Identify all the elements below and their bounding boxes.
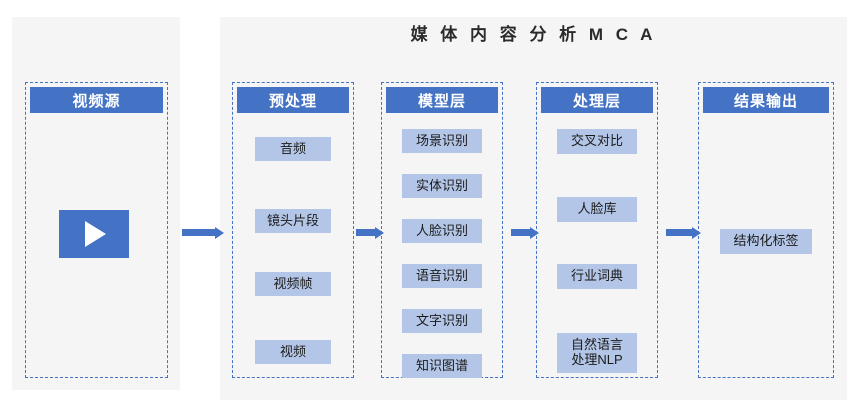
column-body-processing-layer: 交叉对比 人脸库 行业词典 自然语言 处理NLP [537, 115, 657, 377]
list-item[interactable]: 交叉对比 [557, 129, 637, 154]
column-body-result-output: 结构化标签 [699, 115, 833, 377]
list-item[interactable]: 文字识别 [402, 309, 482, 333]
column-model-layer[interactable]: 模型层 场景识别 实体识别 人脸识别 语音识别 文字识别 知识图谱 [381, 82, 503, 378]
list-item[interactable]: 行业词典 [557, 264, 637, 289]
play-icon[interactable] [59, 210, 129, 258]
arrow-source-to-preprocessing [182, 226, 224, 239]
arrow-head [215, 227, 224, 239]
play-triangle-glyph [85, 221, 106, 247]
list-item[interactable]: 人脸库 [557, 197, 637, 222]
list-item[interactable]: 镜头片段 [255, 209, 331, 233]
column-header-processing-layer: 处理层 [541, 87, 653, 113]
list-item[interactable]: 自然语言 处理NLP [557, 333, 637, 373]
list-item[interactable]: 音频 [255, 137, 331, 161]
list-item[interactable]: 实体识别 [402, 174, 482, 198]
arrow-preprocessing-to-model [356, 226, 384, 239]
column-result-output[interactable]: 结果输出 结构化标签 [698, 82, 834, 378]
list-item[interactable]: 人脸识别 [402, 219, 482, 243]
list-item[interactable]: 场景识别 [402, 129, 482, 153]
arrow-head [530, 227, 539, 239]
arrow-model-to-processing [511, 226, 539, 239]
list-item[interactable]: 知识图谱 [402, 354, 482, 378]
list-item[interactable]: 结构化标签 [720, 229, 812, 254]
arrow-shaft [182, 229, 215, 236]
column-body-preprocessing: 音频 镜头片段 视频帧 视频 [233, 115, 353, 377]
list-item[interactable]: 语音识别 [402, 264, 482, 288]
arrow-head [375, 227, 384, 239]
list-item[interactable]: 视频帧 [255, 272, 331, 296]
column-body-model-layer: 场景识别 实体识别 人脸识别 语音识别 文字识别 知识图谱 [382, 115, 502, 377]
column-preprocessing[interactable]: 预处理 音频 镜头片段 视频帧 视频 [232, 82, 354, 378]
arrow-shaft [356, 229, 375, 236]
column-processing-layer[interactable]: 处理层 交叉对比 人脸库 行业词典 自然语言 处理NLP [536, 82, 658, 378]
arrow-shaft [666, 229, 692, 236]
column-header-preprocessing: 预处理 [237, 87, 349, 113]
arrow-shaft [511, 229, 530, 236]
arrow-processing-to-output [666, 226, 701, 239]
list-item[interactable]: 视频 [255, 340, 331, 364]
column-header-result-output: 结果输出 [703, 87, 829, 113]
column-header-model-layer: 模型层 [386, 87, 498, 113]
diagram-title: 媒 体 内 容 分 析 M C A [220, 20, 847, 45]
arrow-head [692, 227, 701, 239]
column-header-video-source: 视频源 [30, 87, 163, 113]
